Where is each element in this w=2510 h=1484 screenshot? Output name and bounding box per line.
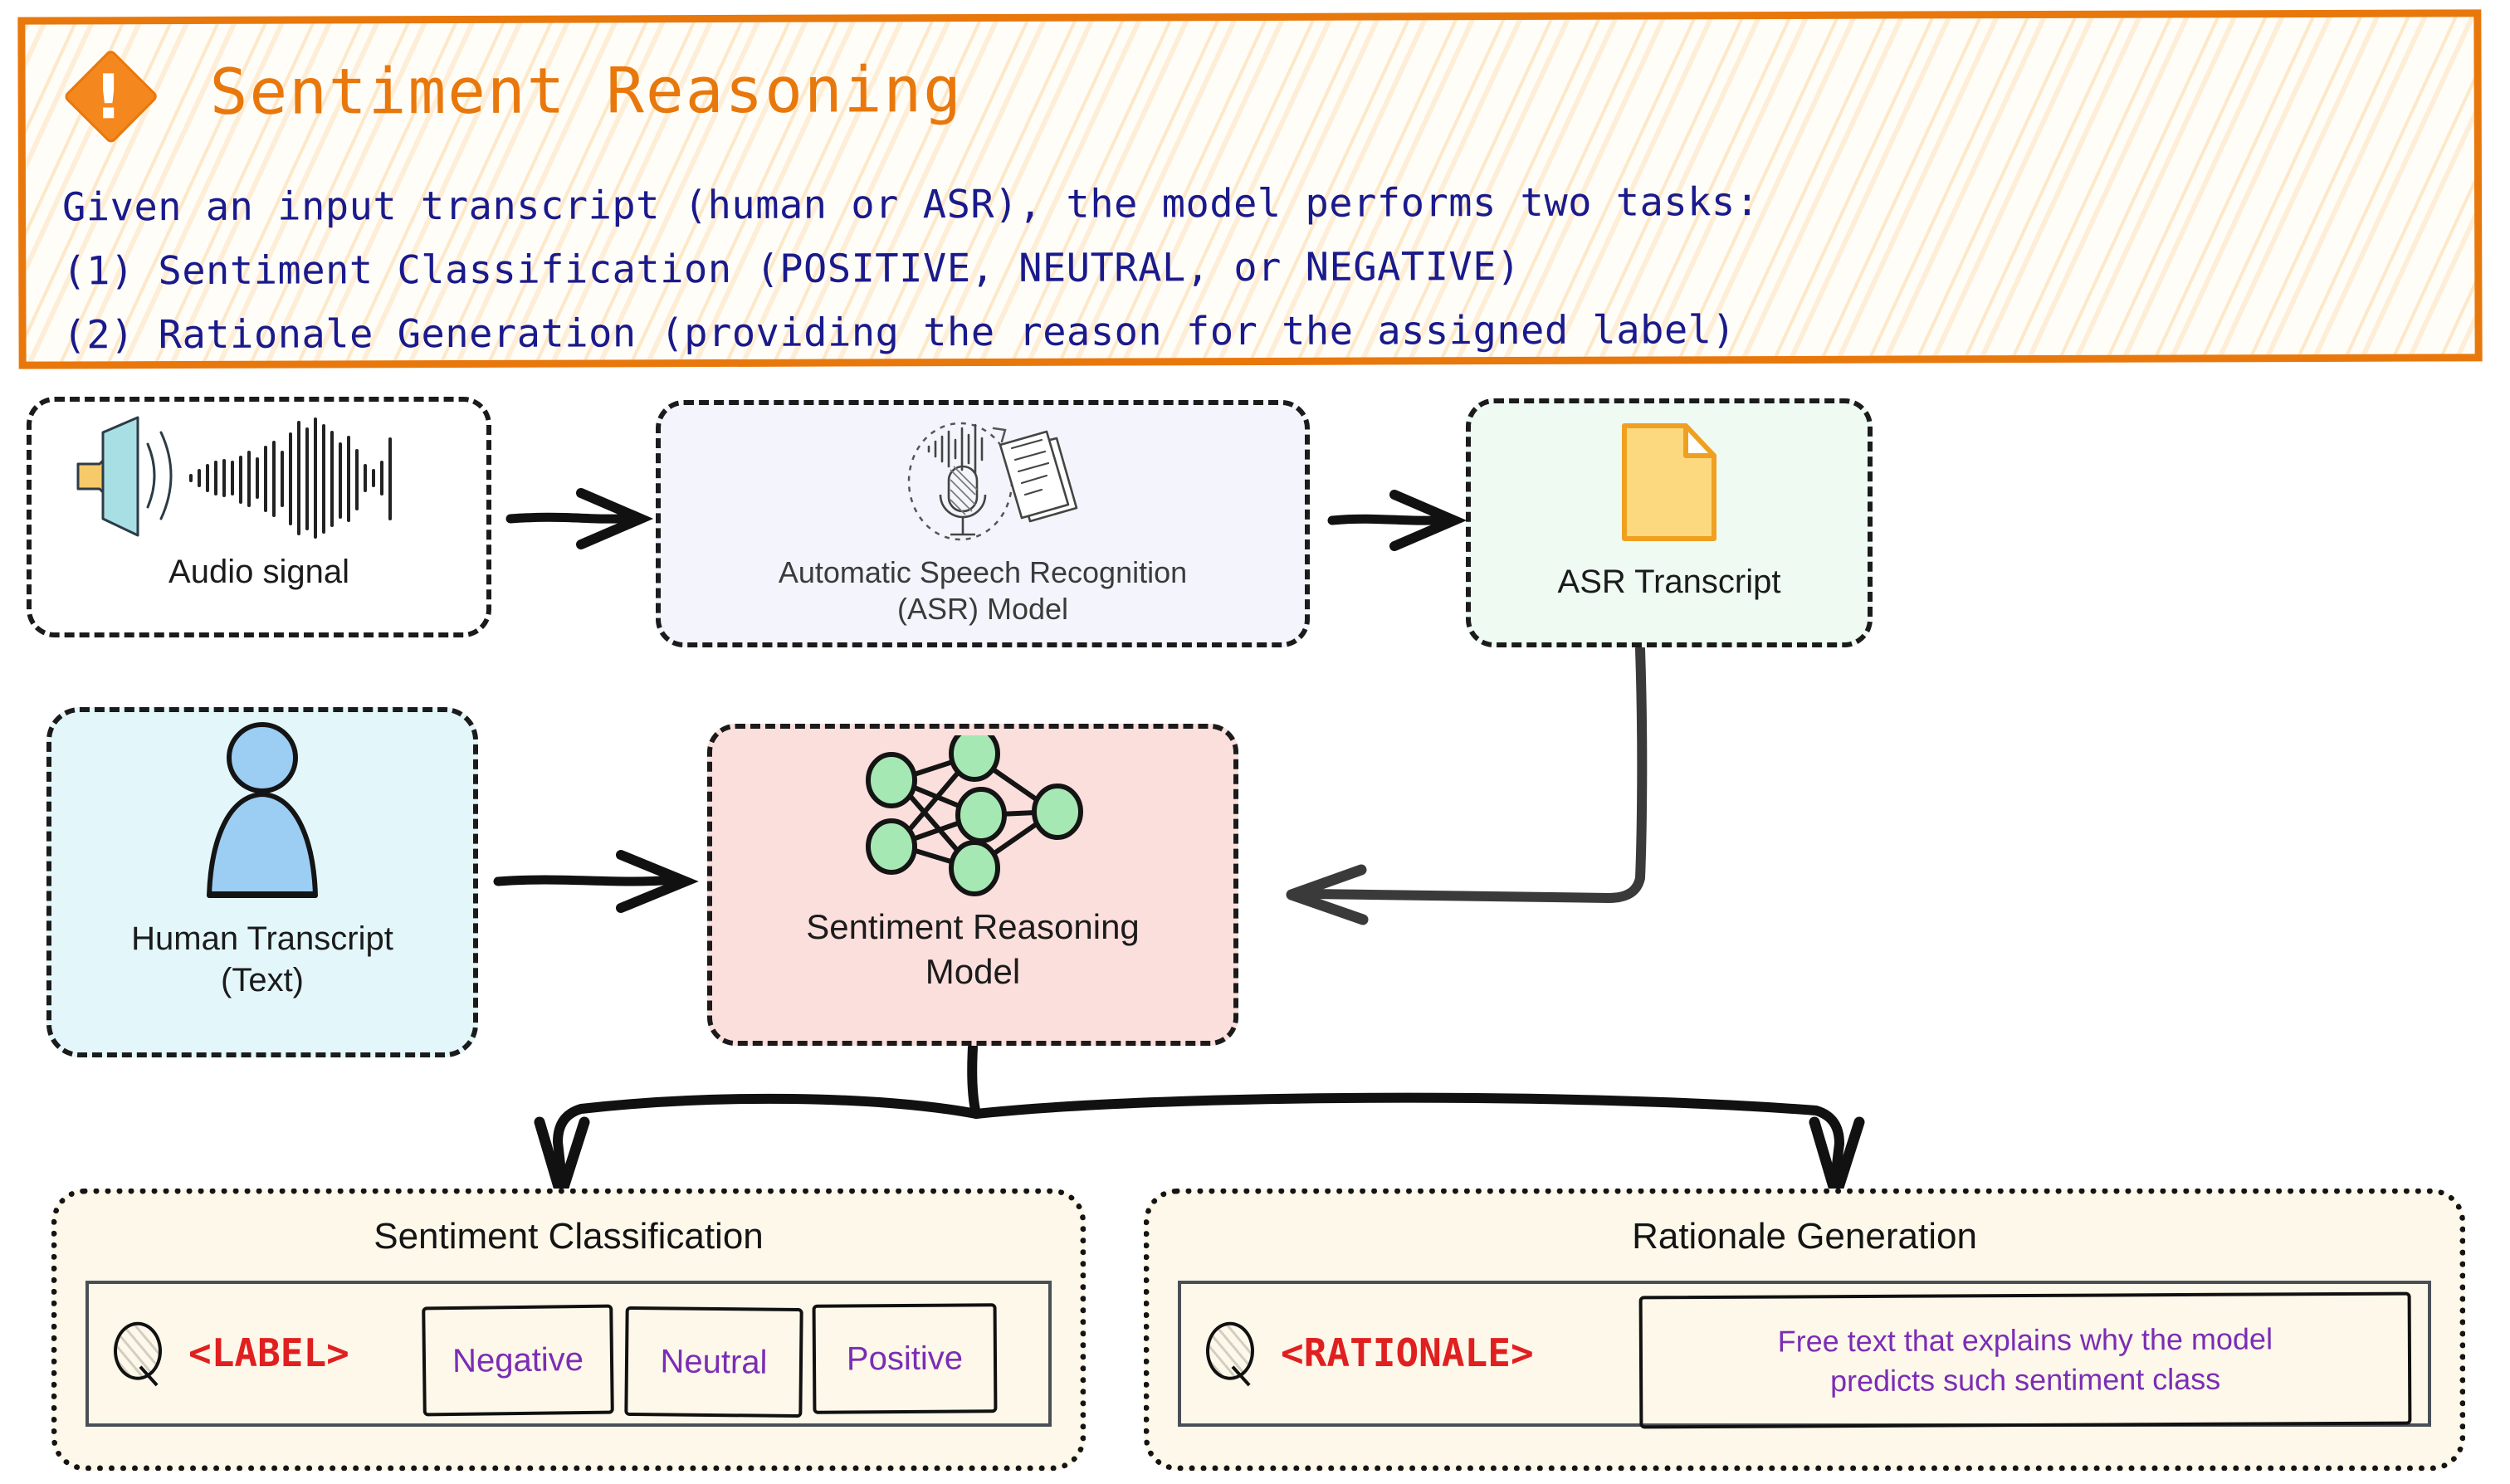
arrow-asr-to-transcript [1332, 495, 1454, 546]
asr-model-label-line1: Automatic Speech Recognition [779, 554, 1187, 591]
model-label-line2: Model [925, 949, 1020, 994]
magnifier-icon [110, 1322, 165, 1377]
rationale-inner-frame: <RATIONALE> Free text that explains why … [1178, 1281, 2431, 1427]
header-line-3: (2) Rationale Generation (providing the … [62, 295, 2453, 367]
rationale-generation-title: Rationale Generation [1150, 1213, 2459, 1261]
header-callout: ! Sentiment Reasoning Given an input tra… [17, 9, 2482, 369]
person-icon [51, 712, 473, 918]
audio-signal-node[interactable]: Audio signal [27, 397, 491, 637]
rationale-generation-panel[interactable]: Rationale Generation <RATIONALE> Free te… [1144, 1189, 2465, 1471]
sentiment-reasoning-model-node[interactable]: Sentiment Reasoning Model [707, 724, 1238, 1046]
audio-signal-label: Audio signal [168, 551, 349, 593]
asr-transcript-node[interactable]: ASR Transcript [1466, 398, 1873, 647]
class-chip-neutral-label: Neutral [660, 1343, 767, 1381]
document-page-icon [1471, 403, 1868, 561]
rationale-tag: <RATIONALE> [1281, 1330, 1534, 1375]
arrow-human-to-model [498, 855, 686, 908]
header-description: Given an input transcript (human or ASR)… [62, 168, 2454, 367]
neural-network-icon [712, 729, 1233, 905]
class-chip-neutral[interactable]: Neutral [624, 1306, 803, 1418]
sentiment-inner-frame: <LABEL> Negative Neutral Positive [85, 1281, 1052, 1427]
human-transcript-label-line1: Human Transcript [131, 918, 393, 959]
waveform-icon [191, 419, 390, 537]
asr-transcript-label: ASR Transcript [1558, 561, 1781, 603]
arrow-transcript-to-model [1292, 649, 1642, 920]
speaker-icon [78, 417, 171, 535]
model-label-line1: Sentiment Reasoning [806, 905, 1140, 949]
class-chip-positive[interactable]: Positive [813, 1303, 998, 1414]
sentiment-classification-title: Sentiment Classification [57, 1213, 1080, 1261]
arrow-model-to-outputs [540, 1047, 1859, 1195]
warning-diamond-icon: ! [65, 51, 151, 137]
asr-model-node[interactable]: Automatic Speech Recognition (ASR) Model [656, 400, 1310, 647]
arrow-audio-to-asr [510, 493, 641, 544]
sentiment-classification-panel[interactable]: Sentiment Classification <LABEL> Negativ… [51, 1189, 1086, 1471]
class-chip-positive-label: Positive [847, 1340, 963, 1378]
warning-bang: ! [65, 57, 151, 137]
human-transcript-node[interactable]: Human Transcript (Text) [46, 707, 478, 1057]
human-transcript-label-line2: (Text) [221, 959, 304, 1001]
document [1000, 432, 1077, 521]
rationale-text-line2: predicts such sentiment class [1830, 1360, 2220, 1401]
microphone-document-icon [661, 405, 1305, 554]
rationale-text-chip[interactable]: Free text that explains why the model pr… [1639, 1292, 2412, 1429]
speaker-waveform-icon [32, 402, 486, 551]
class-chip-negative-label: Negative [452, 1341, 584, 1380]
microphone [940, 466, 985, 535]
class-chip-negative[interactable]: Negative [422, 1305, 614, 1417]
asr-model-label-line2: (ASR) Model [897, 591, 1068, 627]
rationale-text-line1: Free text that explains why the model [1778, 1319, 2273, 1361]
page-title: Sentiment Reasoning [209, 46, 963, 135]
magnifier-icon [1203, 1322, 1257, 1377]
header-line-2: (1) Sentiment Classification (POSITIVE, … [62, 232, 2453, 303]
header-line-1: Given an input transcript (human or ASR)… [62, 168, 2453, 239]
label-tag: <LABEL> [188, 1330, 349, 1375]
